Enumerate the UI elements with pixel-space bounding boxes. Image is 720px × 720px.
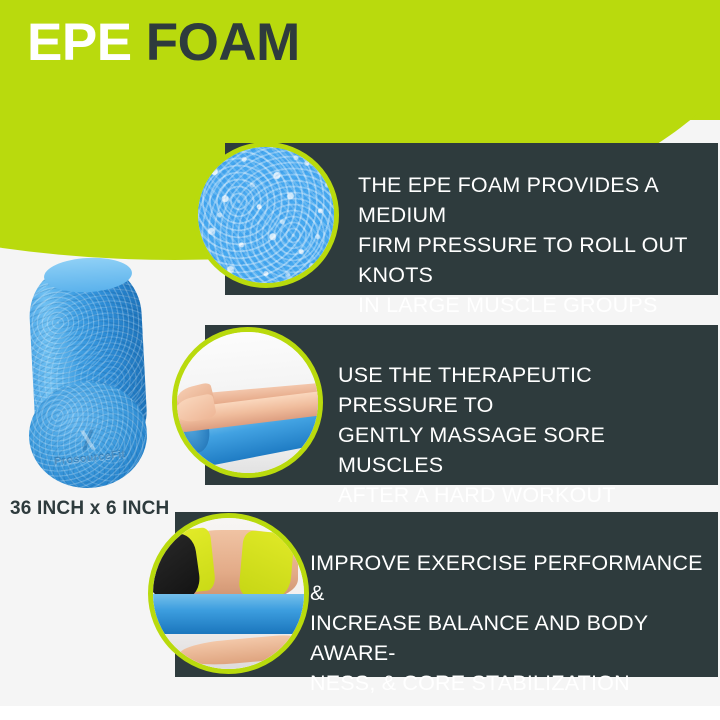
title-part-foam: FOAM [146,13,300,72]
dimension-label: 36 INCH x 6 INCH [10,498,169,520]
yellow-top-right [238,529,295,600]
bottom-margin [0,706,720,720]
feature-image-torso-on-roller [148,513,309,674]
foam-texture-icon [198,147,334,283]
feature-image-legs-on-roller [172,327,323,478]
title-part-epe: EPE [27,13,132,72]
feature-image-foam-texture [193,142,339,288]
product-infographic: EPE FOAM THE EPE FOAM PROVIDES A MEDIUM … [0,0,720,720]
product-roller-image: ProsourceFit [22,262,150,492]
feature-text-2: USE THE THERAPEUTIC PRESSURE TO GENTLY M… [338,360,708,510]
feature-text-3: IMPROVE EXERCISE PERFORMANCE & INCREASE … [310,548,710,698]
feature-text-1: THE EPE FOAM PROVIDES A MEDIUM FIRM PRES… [358,170,708,320]
legs-on-roller-photo [177,332,318,473]
roller-cylinder [148,594,309,635]
torso-on-roller-photo [153,518,304,669]
brand-mark-icon [74,429,102,452]
page-title: EPE FOAM [27,13,300,73]
